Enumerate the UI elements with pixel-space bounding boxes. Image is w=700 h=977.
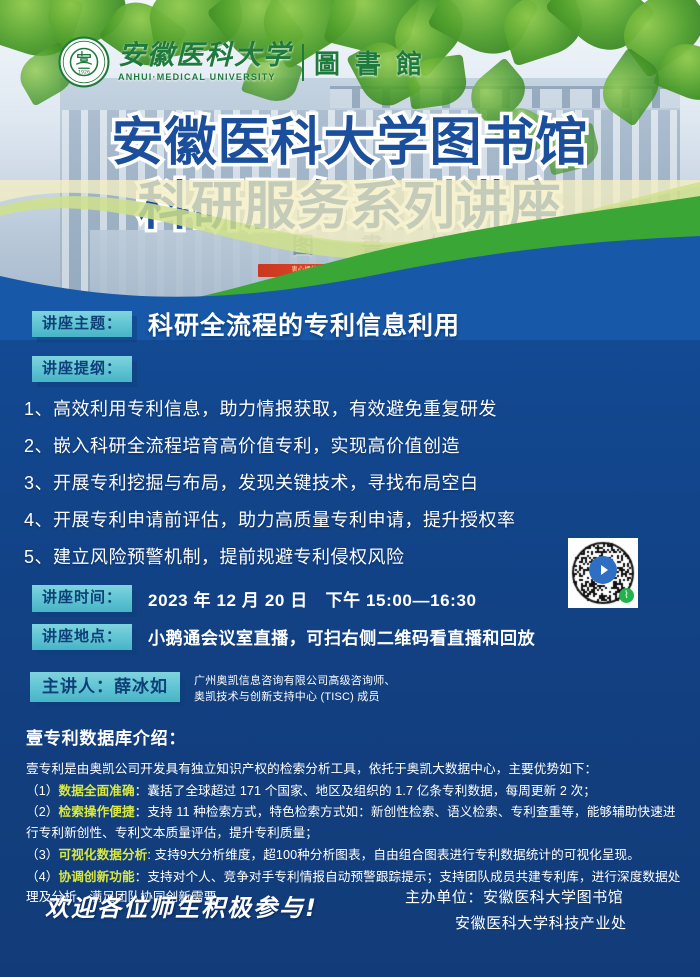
host-line-1: 主办单位：安徽医科大学图书馆 [405,885,627,911]
topic-row: 讲座主题： 科研全流程的专利信息利用 [0,306,700,342]
speaker-row: 主讲人：薛冰如 广州奥凯信息咨询有限公司高级咨询师、 奥凯技术与创新支持中心 (… [0,672,700,706]
database-feature-3: （3）可视化数据分析: 支持9大分析维度，超100种分析图表，自由组合图表进行专… [26,845,682,866]
feature-number: （2） [26,805,59,819]
poster-footer: 欢迎各位师生积极参与! 主办单位：安徽医科大学图书馆 安徽医科大学科技产业处 [0,880,700,977]
svg-text:安徽医科大学图书馆: 安徽医科大学图书馆 [111,113,588,173]
database-heading: 壹专利数据库介绍： [26,724,682,749]
feature-number: （1） [26,784,59,798]
speaker-affiliation: 广州奥凯信息咨询有限公司高级咨询师、 奥凯技术与创新支持中心 (TISC) 成员 [194,672,396,706]
university-name-cn: 安徽医科大学 [118,42,292,69]
poster-root: 图書馆 衷心拥护 "两个确立" 坚决做到 "两个维护" [0,0,700,977]
feature-text: : 支持9大分析维度，超100种分析图表，自由组合图表进行专利数据统计的可视化呈… [147,848,640,862]
database-feature-2: （2）检索操作便捷：支持 11 种检索方式，特色检索方式如：新创性检索、语义检索… [26,802,682,844]
university-logo-lockup: 1926 安徽医科大学 ANHUI·MEDICAL UNIVERSITY 圖 書… [58,36,425,88]
topic-value: 科研全流程的专利信息利用 [148,306,460,342]
wechat-miniprogram-icon: ⌇ [619,588,634,603]
time-value: 2023 年 12 月 20 日 下午 15:00—16:30 [148,586,477,611]
place-value: 小鹅通会议室直播，可扫右侧二维码看直播和回放 [148,624,535,649]
feature-text: ：囊括了全球超过 171 个国家、地区及组织的 1.7 亿条专利数据，每周更新 … [135,784,596,798]
time-label-chip: 讲座时间： [32,585,132,611]
list-item: 1、高效利用专利信息，助力情报获取，有效避免重复研发 [24,400,700,418]
database-intro-text: 壹专利是由奥凯公司开发具有独立知识产权的检索分析工具，依托于奥凯大数据中心，主要… [26,759,682,780]
speaker-affiliation-line2: 奥凯技术与创新支持中心 (TISC) 成员 [194,691,380,703]
host-line-2: 安徽医科大学科技产业处 [405,911,627,937]
list-item: 4、开展专利申请前评估，助力高质量专利申请，提升授权率 [24,511,700,529]
feature-highlight: 检索操作便捷 [59,805,135,819]
play-icon [601,565,608,575]
feature-highlight: 可视化数据分析 [59,848,148,862]
list-item: 3、开展专利挖掘与布局，发现关键技术，寻找布局空白 [24,474,700,492]
library-name-label: 圖 書 館 [302,44,425,81]
university-name-en: ANHUI·MEDICAL UNIVERSITY [118,72,292,82]
place-row: 讲座地点： 小鹅通会议室直播，可扫右侧二维码看直播和回放 [0,624,700,650]
topic-label-chip: 讲座主题： [32,311,132,337]
host-organizations: 主办单位：安徽医科大学图书馆 安徽医科大学科技产业处 [405,885,627,938]
qr-pattern: ⌇ [571,541,635,605]
database-feature-1: （1）数据全面准确：囊括了全球超过 171 个国家、地区及组织的 1.7 亿条专… [26,781,682,802]
welcome-message: 欢迎各位师生积极参与! [45,888,318,923]
feature-highlight: 数据全面准确 [59,784,135,798]
speaker-label-chip: 主讲人：薛冰如 [30,672,180,703]
outline-label-chip: 讲座提纲： [32,356,132,382]
qr-center-badge [589,556,617,584]
livestream-qr-code[interactable]: ⌇ [568,538,638,608]
list-item: 2、嵌入科研全流程培育高价值专利，实现高价值创造 [24,437,700,455]
place-label-chip: 讲座地点： [32,624,132,650]
feature-number: （3） [26,848,59,862]
outline-row: 讲座提纲： [0,356,700,382]
speaker-affiliation-line1: 广州奥凯信息咨询有限公司高级咨询师、 [194,675,396,687]
svg-text:1926: 1926 [78,69,90,75]
university-seal-icon: 1926 [58,36,110,88]
